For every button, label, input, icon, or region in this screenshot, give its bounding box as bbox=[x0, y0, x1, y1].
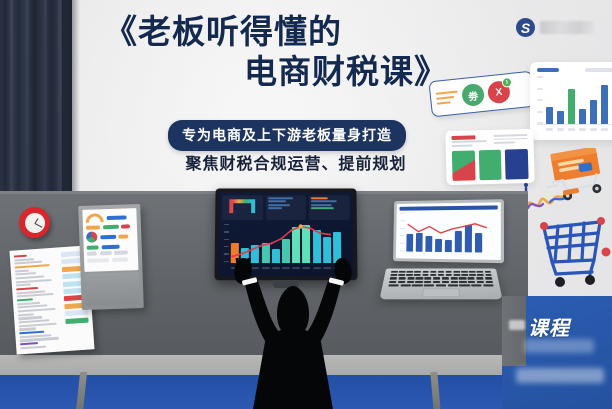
holder-base bbox=[85, 272, 140, 306]
spreadsheet-row bbox=[16, 284, 31, 287]
wall-card-bar bbox=[601, 85, 608, 124]
keyboard-row bbox=[389, 281, 493, 283]
coupon-badge-count: 1 bbox=[501, 77, 512, 88]
wall-card-bar bbox=[546, 107, 553, 124]
laptop-keyboard-base bbox=[379, 268, 502, 299]
watermark-line-1-redacted bbox=[524, 339, 594, 353]
spreadsheet-row bbox=[15, 269, 29, 272]
keyboard-row bbox=[388, 284, 493, 286]
dashboard-gauge-panel bbox=[222, 195, 263, 220]
watermark-desk-overlap bbox=[502, 296, 526, 366]
logo-s-icon: S bbox=[516, 18, 535, 37]
subtitle-secondary: 聚焦财税合规运营、提前规划 bbox=[164, 150, 428, 174]
wall-card-title-bar bbox=[537, 68, 559, 72]
gauge-arc-icon bbox=[85, 213, 103, 223]
dashboard-kpi-panel bbox=[266, 195, 307, 220]
course-poster: 《老板听得懂的 电商财税课》 专为电商及上下游老板量身打造 聚焦财税合规运营、提… bbox=[0, 0, 612, 409]
laptop-keyboard bbox=[388, 271, 493, 286]
wall-card-y-axis bbox=[537, 76, 545, 124]
spreadsheet-row bbox=[18, 308, 56, 313]
spreadsheet-row bbox=[16, 279, 52, 284]
wall-card-plot-area bbox=[537, 76, 612, 125]
coupon-red-label: X bbox=[495, 86, 503, 98]
subtitle-pill-badge: 专为电商及上下游老板量身打造 bbox=[168, 120, 406, 151]
person-silhouette bbox=[213, 258, 373, 409]
watermark-line-2-redacted bbox=[516, 368, 604, 383]
watermark-prefix-redacted bbox=[509, 320, 525, 330]
brand-logo: S bbox=[516, 18, 594, 37]
spreadsheet-row bbox=[16, 287, 38, 291]
laptop-screen-header bbox=[399, 205, 497, 210]
doc-card-color-blocks bbox=[452, 149, 529, 181]
keyboard-row bbox=[390, 274, 491, 276]
keyboard-row bbox=[391, 271, 491, 273]
spreadsheet-row bbox=[20, 342, 38, 345]
wall-bar-chart-card bbox=[530, 62, 612, 140]
logo-name-redacted bbox=[540, 21, 594, 34]
shopping-cart-icon bbox=[534, 212, 612, 288]
spreadsheet-row bbox=[20, 345, 46, 349]
wall-card-bar bbox=[590, 100, 597, 124]
delivery-parcel-scooter-icon bbox=[540, 148, 612, 204]
wall-card-bar bbox=[579, 109, 586, 124]
doc-card-text-rows bbox=[451, 134, 527, 147]
laptop-trend-line bbox=[399, 212, 498, 253]
keyboard-row bbox=[390, 277, 493, 279]
silver-laptop bbox=[383, 200, 503, 310]
laptop-report-screen bbox=[396, 202, 501, 260]
spreadsheet-side-block bbox=[65, 310, 88, 317]
watermark-panel: 课程 bbox=[502, 296, 612, 409]
coupon-green-icon: 劵 bbox=[461, 83, 485, 107]
wall-card-x-axis bbox=[537, 128, 612, 131]
spreadsheet-row bbox=[14, 255, 27, 258]
coupon-red-icon: X 1 bbox=[487, 80, 511, 104]
headline-line-1: 《老板听得懂的 bbox=[96, 12, 456, 52]
spreadsheet-row bbox=[18, 313, 35, 316]
spreadsheet-side-block bbox=[66, 317, 89, 324]
wall-card-legend bbox=[585, 68, 612, 72]
spreadsheet-row bbox=[19, 328, 36, 331]
wall-card-header bbox=[537, 68, 612, 72]
wall-document-card bbox=[445, 129, 534, 185]
clock-face bbox=[25, 213, 45, 233]
document-holder bbox=[78, 204, 144, 310]
spreadsheet-row bbox=[17, 293, 54, 298]
infographic-page bbox=[82, 208, 138, 272]
donut-chart-icon bbox=[86, 231, 97, 242]
left-curtain bbox=[0, 0, 72, 196]
dashboard-gauge-icon bbox=[230, 199, 256, 213]
dashboard-stat-panel bbox=[309, 195, 350, 220]
spreadsheet-row bbox=[17, 298, 33, 301]
clock-minute-hand bbox=[34, 223, 42, 228]
laptop-trackpad[interactable] bbox=[422, 288, 460, 297]
poster-headline: 《老板听得懂的 电商财税课》 bbox=[96, 12, 456, 92]
dashboard-top-panels bbox=[222, 195, 350, 220]
coupon-text-lines bbox=[436, 90, 459, 105]
spreadsheet-row bbox=[19, 322, 58, 327]
spreadsheet-row bbox=[15, 264, 50, 269]
wall-card-bar bbox=[568, 89, 575, 124]
monitor-chart-y-axis bbox=[224, 224, 230, 262]
spreadsheet-rows bbox=[14, 253, 64, 350]
laptop-lid bbox=[393, 199, 504, 263]
wall-card-bar bbox=[557, 111, 564, 124]
headline-line-2: 电商财税课》 bbox=[96, 52, 456, 92]
desk-clock bbox=[19, 207, 50, 238]
watermark-title: 课程 bbox=[528, 312, 570, 341]
laptop-bar-chart bbox=[399, 212, 498, 253]
